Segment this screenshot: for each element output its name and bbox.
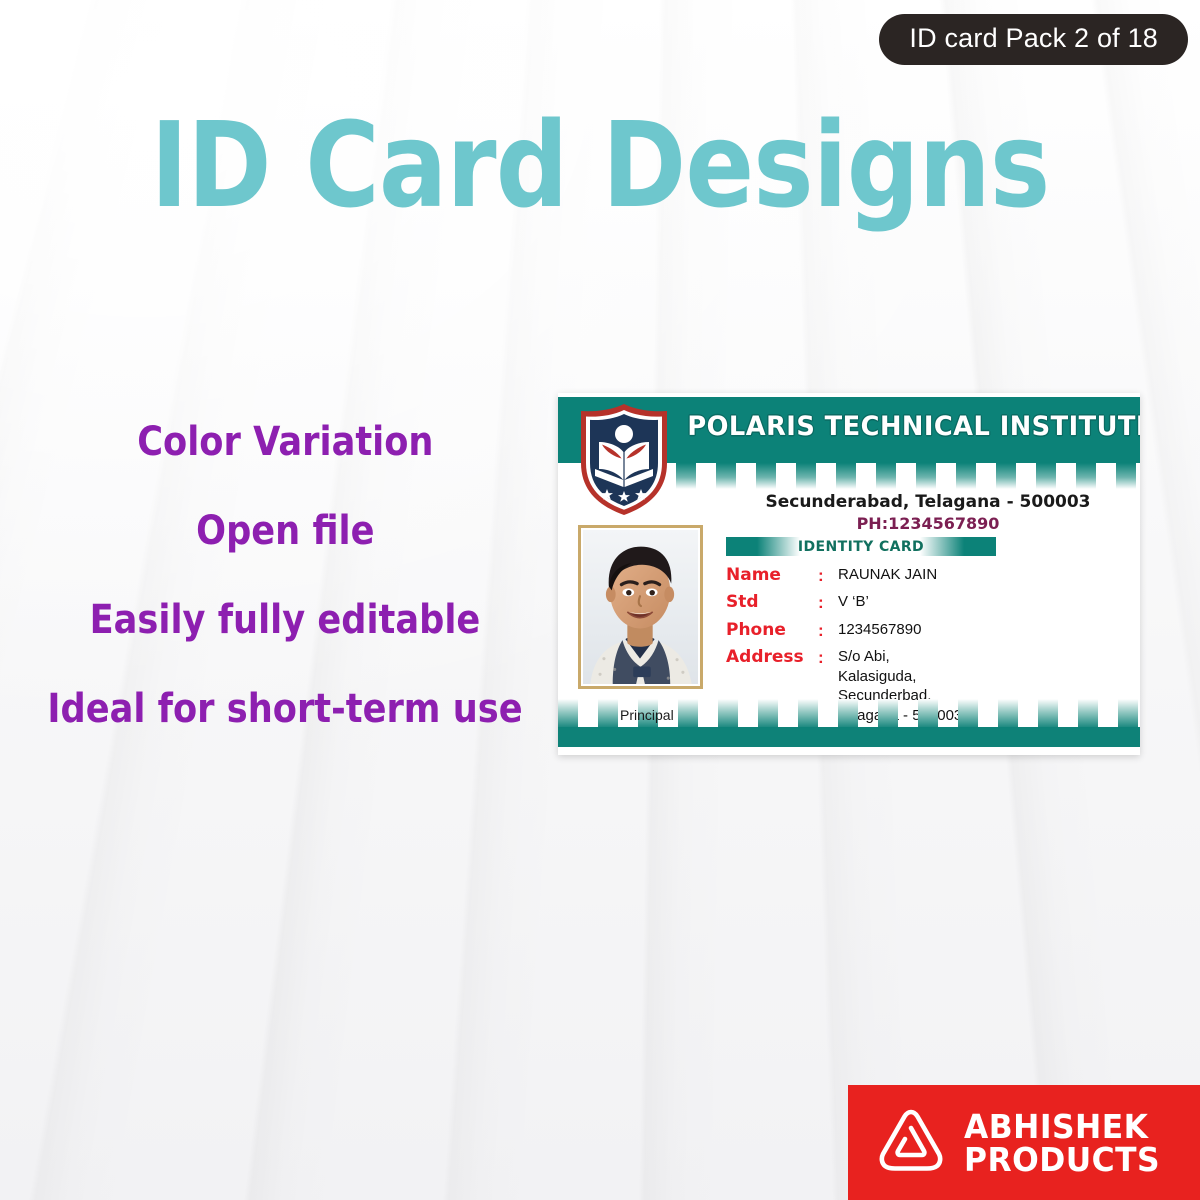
brand-line-2: PRODUCTS <box>964 1143 1160 1176</box>
feature-item-easily-editable: Easily fully editable <box>90 598 481 642</box>
feature-item-short-term-use: Ideal for short-term use <box>47 687 522 731</box>
brand-line-1: ABHISHEK <box>964 1110 1160 1143</box>
field-value-name: RAUNAK JAIN <box>832 565 937 585</box>
field-label-name: Name <box>726 565 818 586</box>
principal-signature-label: Principal <box>620 707 674 723</box>
field-value-phone: 1234567890 <box>832 620 921 640</box>
field-label-phone: Phone <box>726 620 818 641</box>
brand-logo: ABHISHEK PRODUCTS <box>848 1085 1200 1200</box>
field-value-std: V ‘B’ <box>832 592 869 612</box>
field-colon-name: : <box>818 565 832 586</box>
institute-address: Secunderabad, Telagana - 500003 <box>718 492 1138 512</box>
field-colon-std: : <box>818 592 832 613</box>
student-photo-frame <box>578 525 703 689</box>
field-row-std: Std : V ‘B’ <box>726 592 1126 613</box>
institute-name: POLARIS TECHNICAL INSTITUTE <box>687 411 1119 442</box>
feature-list: Color Variation Open file Easily fully e… <box>0 420 570 731</box>
pack-badge: ID card Pack 2 of 18 <box>879 14 1188 65</box>
page-title: ID Card Designs <box>84 104 1116 228</box>
institute-phone: PH:1234567890 <box>718 514 1138 533</box>
student-photo <box>583 530 698 684</box>
identity-card-label: IDENTITY CARD <box>726 539 996 555</box>
feature-item-color-variation: Color Variation <box>137 420 433 464</box>
brand-wordmark: ABHISHEK PRODUCTS <box>964 1110 1160 1176</box>
feature-item-open-file: Open file <box>196 509 374 553</box>
field-label-std: Std <box>726 592 818 613</box>
field-label-address: Address <box>726 647 818 668</box>
institute-shield-logo <box>571 401 677 518</box>
abhishek-triangle-icon <box>874 1103 948 1182</box>
card-footer-bar <box>558 727 1140 747</box>
identity-card-banner: IDENTITY CARD <box>726 537 996 556</box>
id-card-preview: POLARIS TECHNICAL INSTITUTE Secunderabad… <box>558 393 1140 755</box>
field-row-name: Name : RAUNAK JAIN <box>726 565 1126 586</box>
field-colon-address: : <box>818 647 832 668</box>
checker-strip-top <box>676 463 1140 489</box>
field-colon-phone: : <box>818 620 832 641</box>
field-row-phone: Phone : 1234567890 <box>726 620 1126 641</box>
